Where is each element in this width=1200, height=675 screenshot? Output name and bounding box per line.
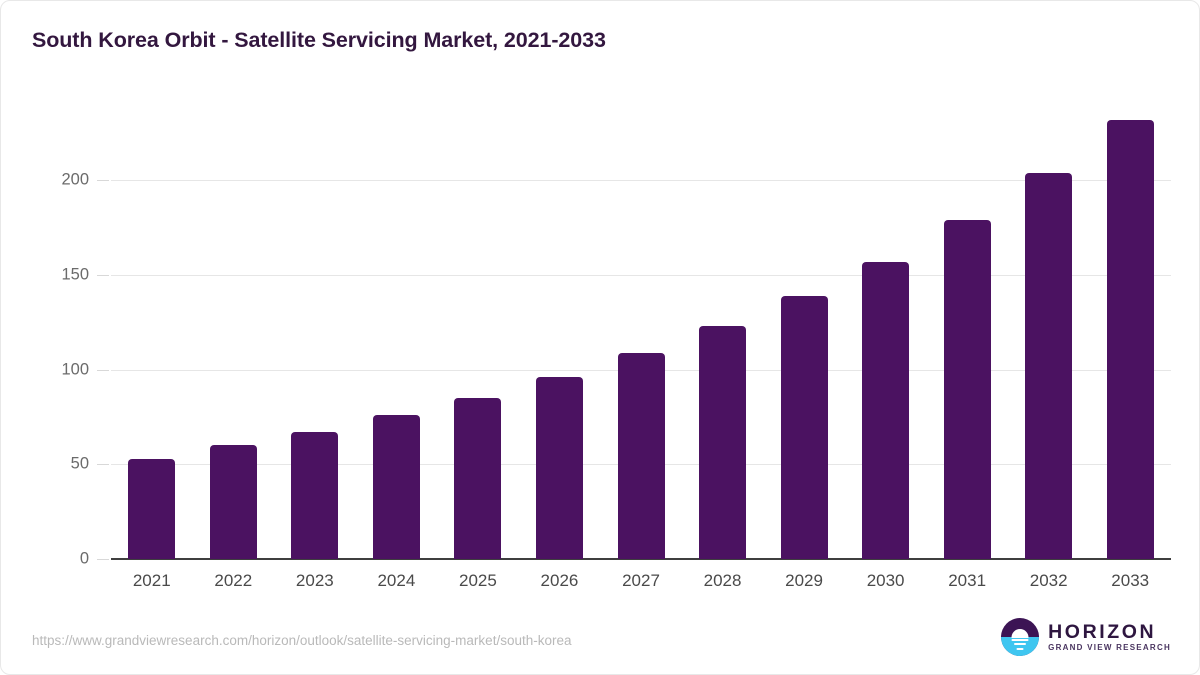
- logo-ray-2: [1014, 643, 1026, 645]
- y-tick-mark: [97, 275, 109, 276]
- x-tick-label-2033: 2033: [1089, 571, 1171, 591]
- x-tick-label-2026: 2026: [518, 571, 600, 591]
- y-tick-mark: [97, 464, 109, 465]
- bar-series: [111, 101, 1171, 559]
- x-tick-label-2032: 2032: [1008, 571, 1090, 591]
- source-url[interactable]: https://www.grandviewresearch.com/horizo…: [32, 633, 571, 648]
- x-tick-label-2023: 2023: [274, 571, 356, 591]
- bar-2030[interactable]: [862, 262, 909, 559]
- bar-2025[interactable]: [454, 398, 501, 559]
- y-tick-mark: [97, 559, 109, 560]
- bar-2022[interactable]: [210, 445, 257, 559]
- x-tick-label-2022: 2022: [192, 571, 274, 591]
- logo-tagline: GRAND VIEW RESEARCH: [1048, 644, 1171, 652]
- bar-2031[interactable]: [944, 220, 991, 559]
- y-tick-label: 100: [9, 360, 89, 379]
- x-tick-label-2028: 2028: [682, 571, 764, 591]
- y-tick-label: 0: [9, 550, 89, 569]
- bar-2024[interactable]: [373, 415, 420, 559]
- bar-2028[interactable]: [699, 326, 746, 559]
- y-tick-mark: [97, 180, 109, 181]
- logo-sun-shape: [1012, 629, 1029, 638]
- x-tick-label-2024: 2024: [355, 571, 437, 591]
- y-tick-label: 150: [9, 266, 89, 285]
- y-tick-label: 50: [9, 455, 89, 474]
- x-tick-label-2030: 2030: [845, 571, 927, 591]
- bar-2027[interactable]: [618, 353, 665, 559]
- brand-logo: HORIZON GRAND VIEW RESEARCH: [1001, 618, 1171, 656]
- x-tick-label-2031: 2031: [926, 571, 1008, 591]
- logo-text-block: HORIZON GRAND VIEW RESEARCH: [1048, 622, 1171, 653]
- bar-2026[interactable]: [536, 377, 583, 559]
- y-tick-mark: [97, 370, 109, 371]
- logo-name: HORIZON: [1048, 622, 1171, 642]
- y-tick-label: 200: [9, 171, 89, 190]
- chart-plot: Market Size (US$M) 202120222023202420252…: [1, 1, 1200, 675]
- x-tick-label-2025: 2025: [437, 571, 519, 591]
- x-tick-label-2027: 2027: [600, 571, 682, 591]
- bar-2023[interactable]: [291, 432, 338, 559]
- x-tick-label-2029: 2029: [763, 571, 845, 591]
- chart-card: South Korea Orbit - Satellite Servicing …: [0, 0, 1200, 675]
- logo-ray-1: [1012, 639, 1029, 641]
- horizon-sunset-icon: [1001, 618, 1039, 656]
- bar-2029[interactable]: [781, 296, 828, 559]
- x-tick-label-2021: 2021: [111, 571, 193, 591]
- bar-2032[interactable]: [1025, 173, 1072, 559]
- bar-2033[interactable]: [1107, 120, 1154, 559]
- bar-2021[interactable]: [128, 459, 175, 559]
- logo-ray-3: [1017, 648, 1024, 650]
